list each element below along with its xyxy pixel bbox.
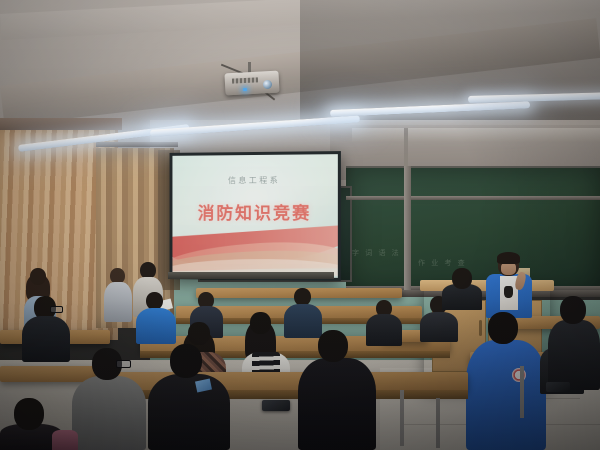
- presenter-hair: [497, 252, 520, 264]
- student-body-blue-hoodie: [136, 308, 176, 344]
- desk-leg: [400, 390, 404, 446]
- student-body: [548, 320, 600, 390]
- smartphone-on-desk: [262, 400, 290, 411]
- student-body: [104, 282, 132, 322]
- classroom-photo: 字 词 语 法 作 业 考 查 信息工程系 消防知识竞赛: [0, 0, 600, 450]
- student-body: [366, 314, 402, 346]
- student-head: [488, 312, 518, 344]
- projection-screen: 信息工程系 消防知识竞赛: [170, 151, 341, 281]
- slide-surface: 信息工程系 消防知识竞赛: [172, 154, 337, 278]
- desk-left-b: [0, 366, 96, 382]
- student-body-black: [148, 374, 230, 450]
- student-head: [188, 322, 210, 345]
- student-body: [420, 312, 458, 342]
- window-frame: [404, 128, 408, 168]
- student-body-grey-shirt: [72, 376, 146, 450]
- chalkboard-rail-top: [346, 196, 600, 200]
- student-head: [318, 330, 348, 362]
- presenter-shirt-graphic: [504, 286, 513, 298]
- student-head: [30, 268, 46, 285]
- smartphone-on-desk: [546, 382, 570, 392]
- student-head: [250, 312, 271, 334]
- student-head: [170, 344, 202, 378]
- seated-assistant-head: [452, 268, 472, 289]
- student-body-pink: [52, 430, 78, 450]
- slide-title: 消防知识竞赛: [172, 199, 337, 224]
- chalkboard: [346, 166, 600, 296]
- desk-leg: [520, 366, 524, 418]
- student-body: [22, 316, 70, 362]
- projector-lens: [263, 80, 272, 89]
- podium-handle: [479, 320, 482, 336]
- glasses-icon: [50, 306, 63, 313]
- chalkboard-divider: [404, 166, 411, 294]
- student-body-foreground: [298, 358, 376, 450]
- glasses-icon: [116, 360, 131, 368]
- curtain-rail-left: [0, 118, 122, 130]
- student-head: [14, 398, 44, 430]
- student-head: [560, 296, 586, 324]
- student-body-blue-jacket: [466, 340, 546, 450]
- student-body: [284, 304, 322, 338]
- projector-power-led: [243, 88, 247, 91]
- desk-leg: [436, 398, 440, 448]
- slide-subtitle: 信息工程系: [172, 174, 337, 186]
- curtain-rod: [96, 142, 178, 147]
- window-strip: [352, 128, 600, 142]
- chalk-writing-row-1: 字 词 语 法: [352, 248, 401, 258]
- screen-bottom-bar: [168, 272, 334, 279]
- chalk-writing-row-2: 作 业 考 查: [418, 258, 467, 268]
